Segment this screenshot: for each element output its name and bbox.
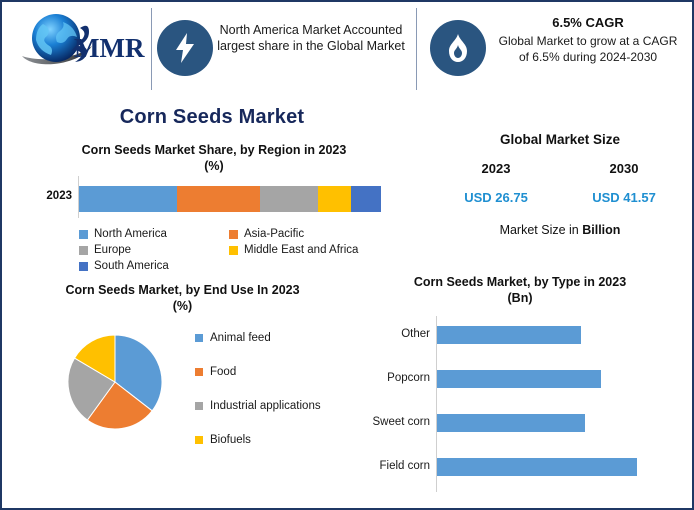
end-use-legend-label: Industrial applications (210, 400, 321, 412)
region-segment-0 (79, 186, 177, 212)
region-segment-3 (318, 186, 351, 212)
cagr-description: Global Market to grow at a CAGR of 6.5% … (492, 33, 684, 65)
region-legend-label: Middle East and Africa (244, 244, 358, 256)
end-use-legend-item: Biofuels (195, 434, 355, 446)
by-type-row: Sweet corn (350, 404, 690, 448)
region-legend-label: Asia-Pacific (244, 228, 304, 240)
region-legend-item: Asia-Pacific (229, 228, 379, 240)
value-2023: USD 26.75 (432, 190, 560, 205)
global-market-size-values: USD 26.75 USD 41.57 (432, 190, 688, 205)
by-type-bar (437, 370, 601, 388)
legend-swatch-icon (195, 334, 203, 342)
cagr-title: 6.5% CAGR (492, 14, 684, 31)
unit-note-strong: Billion (582, 223, 620, 237)
by-type-title-line1: Corn Seeds Market, by Type in 2023 (414, 275, 626, 289)
region-chart-title: Corn Seeds Market Share, by Region in 20… (16, 142, 412, 174)
globe-logo: MMR (16, 10, 146, 72)
region-legend-item: Europe (79, 244, 229, 256)
region-stacked-bar (79, 186, 381, 212)
year-2030-label: 2030 (560, 161, 688, 176)
region-title-line1: Corn Seeds Market Share, by Region in 20… (82, 143, 347, 157)
end-use-plot-area: Animal feedFoodIndustrial applicationsBi… (10, 324, 355, 504)
region-legend-item: Middle East and Africa (229, 244, 379, 256)
infographic-frame: MMR North America Market Accounted large… (0, 0, 694, 510)
end-use-title-line2: (%) (173, 299, 192, 313)
end-use-legend: Animal feedFoodIndustrial applicationsBi… (195, 332, 355, 468)
legend-swatch-icon (195, 436, 203, 444)
region-segment-2 (260, 186, 317, 212)
end-use-legend-label: Biofuels (210, 434, 251, 446)
logo-text: MMR (74, 33, 145, 63)
legend-swatch-icon (79, 230, 88, 239)
by-type-bar (437, 414, 585, 432)
region-legend-label: Europe (94, 244, 131, 256)
year-2023-label: 2023 (432, 161, 560, 176)
by-type-title-line2: (Bn) (508, 291, 533, 305)
by-type-row: Other (350, 316, 690, 360)
by-type-row: Field corn (350, 448, 690, 492)
end-use-legend-label: Animal feed (210, 332, 271, 344)
legend-swatch-icon (79, 246, 88, 255)
region-segment-4 (351, 186, 381, 212)
north-america-highlight-text: North America Market Accounted largest s… (216, 22, 406, 54)
global-market-size-title: Global Market Size (432, 132, 688, 147)
end-use-chart-title: Corn Seeds Market, by End Use In 2023 (%… (10, 282, 355, 314)
cagr-block: 6.5% CAGR Global Market to grow at a CAG… (492, 14, 684, 65)
end-use-legend-label: Food (210, 366, 236, 378)
global-market-size-years: 2023 2030 (432, 161, 688, 176)
by-type-bar (437, 326, 581, 344)
by-type-bar (437, 458, 637, 476)
lightning-bolt-icon (157, 20, 213, 76)
market-size-unit-note: Market Size in Billion (432, 223, 688, 237)
region-legend-item: South America (79, 260, 229, 272)
legend-swatch-icon (229, 230, 238, 239)
header-divider-2 (416, 8, 417, 90)
page-title: Corn Seeds Market (2, 106, 422, 129)
region-legend-item: North America (79, 228, 229, 240)
region-plot-area: 2023 (16, 182, 412, 216)
by-type-row: Popcorn (350, 360, 690, 404)
end-use-legend-item: Industrial applications (195, 400, 355, 412)
legend-swatch-icon (79, 262, 88, 271)
region-share-chart: Corn Seeds Market Share, by Region in 20… (16, 142, 412, 282)
legend-swatch-icon (195, 402, 203, 410)
region-category-label: 2023 (16, 190, 72, 202)
unit-note-prefix: Market Size in (500, 223, 583, 237)
region-legend-label: South America (94, 260, 169, 272)
value-2030: USD 41.57 (560, 190, 688, 205)
end-use-chart: Corn Seeds Market, by End Use In 2023 (%… (10, 282, 355, 508)
by-type-chart: Corn Seeds Market, by Type in 2023 (Bn) … (350, 274, 690, 508)
legend-swatch-icon (195, 368, 203, 376)
end-use-legend-item: Food (195, 366, 355, 378)
region-legend-label: North America (94, 228, 167, 240)
end-use-legend-item: Animal feed (195, 332, 355, 344)
flame-icon (430, 20, 486, 76)
end-use-title-line1: Corn Seeds Market, by End Use In 2023 (65, 283, 299, 297)
region-segment-1 (177, 186, 260, 212)
by-type-category-label: Sweet corn (350, 416, 430, 428)
by-type-chart-title: Corn Seeds Market, by Type in 2023 (Bn) (350, 274, 690, 306)
global-market-size-panel: Global Market Size 2023 2030 USD 26.75 U… (432, 132, 688, 237)
region-legend: North AmericaAsia-PacificEuropeMiddle Ea… (79, 228, 379, 276)
by-type-category-label: Popcorn (350, 372, 430, 384)
by-type-plot-area: OtherPopcornSweet cornField corn (350, 316, 690, 492)
end-use-pie (65, 332, 165, 432)
legend-swatch-icon (229, 246, 238, 255)
region-title-line2: (%) (204, 159, 223, 173)
by-type-category-label: Field corn (350, 460, 430, 472)
header-divider-1 (151, 8, 152, 90)
by-type-category-label: Other (350, 328, 430, 340)
